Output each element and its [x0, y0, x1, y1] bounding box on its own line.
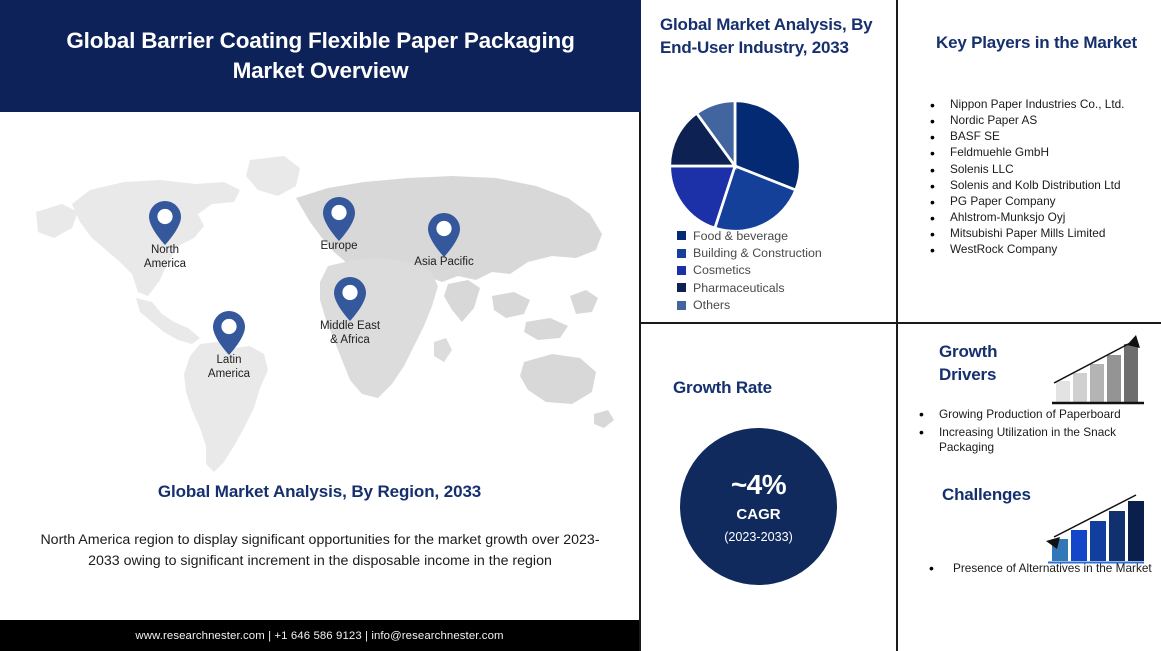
key-player-item: PG Paper Company: [928, 194, 1153, 210]
legend-label: Food & beverage: [693, 229, 788, 243]
map-pin-label: Middle East& Africa: [320, 320, 380, 347]
footer-bar: www.researchnester.com | +1 646 586 9123…: [0, 620, 639, 651]
key-player-item: Solenis and Kolb Distribution Ltd: [928, 178, 1153, 194]
location-pin-icon: [322, 196, 356, 242]
region-analysis-heading: Global Market Analysis, By Region, 2033: [0, 482, 639, 502]
map-pin-label: Asia Pacific: [414, 256, 473, 270]
legend-swatch: [677, 283, 686, 292]
challenges-list: Presence of Alternatives in the Market: [915, 561, 1161, 579]
legend-swatch: [677, 266, 686, 275]
legend-label: Building & Construction: [693, 246, 822, 260]
key-players-title: Key Players in the Market: [936, 32, 1146, 55]
challenges-title: Challenges: [942, 484, 1031, 507]
key-player-item: Nippon Paper Industries Co., Ltd.: [928, 97, 1153, 113]
location-pin-icon: [333, 276, 367, 322]
growth-driver-item: Increasing Utilization in the Snack Pack…: [915, 425, 1161, 456]
pie-legend-item: Pharmaceuticals: [677, 279, 897, 296]
pie-chart-title: Global Market Analysis, By End-User Indu…: [660, 14, 885, 59]
map-pin-asia-pacific[interactable]: Asia Pacific: [427, 212, 461, 258]
map-pin-label: Europe: [320, 240, 357, 254]
world-map-svg: [28, 146, 614, 482]
end-user-industry-panel: Global Market Analysis, By End-User Indu…: [641, 0, 898, 324]
ascending-bar-chart-down-arrow-icon: [1038, 489, 1146, 569]
left-panel: Global Barrier Coating Flexible Paper Pa…: [0, 0, 641, 651]
map-pin-label: LatinAmerica: [208, 354, 250, 381]
world-map: NorthAmerica Europe Asia Pacific: [0, 112, 639, 482]
key-player-item: Feldmuehle GmbH: [928, 145, 1153, 161]
region-analysis-body: North America region to display signific…: [36, 530, 604, 573]
header-banner: Global Barrier Coating Flexible Paper Pa…: [0, 0, 641, 112]
location-pin-icon: [212, 310, 246, 356]
cagr-badge: ~4% CAGR (2023-2033): [680, 428, 837, 585]
legend-label: Pharmaceuticals: [693, 281, 785, 295]
key-player-item: Ahlstrom-Munksjo Oyj: [928, 210, 1153, 226]
footer-contact-text: www.researchnester.com | +1 646 586 9123…: [135, 630, 503, 642]
growth-drivers-list: Growing Production of PaperboardIncreasi…: [915, 407, 1161, 458]
map-pin-europe[interactable]: Europe: [322, 196, 356, 242]
cagr-period: (2023-2033): [724, 530, 793, 544]
challenge-item: Presence of Alternatives in the Market: [915, 561, 1161, 577]
map-pin-north-america[interactable]: NorthAmerica: [148, 200, 182, 246]
cagr-percent: ~4%: [731, 469, 786, 501]
key-player-item: WestRock Company: [928, 242, 1153, 258]
pie-legend-item: Others: [677, 297, 897, 314]
growth-rate-panel: Growth Rate ~4% CAGR (2023-2033): [641, 324, 898, 651]
legend-swatch: [677, 249, 686, 258]
page-title: Global Barrier Coating Flexible Paper Pa…: [0, 26, 641, 86]
key-players-panel: Key Players in the Market Nippon Paper I…: [898, 0, 1161, 324]
pie-legend-item: Building & Construction: [677, 244, 897, 261]
ascending-bar-chart-up-arrow-icon: [1048, 331, 1148, 409]
location-pin-icon: [148, 200, 182, 246]
key-player-item: Nordic Paper AS: [928, 113, 1153, 129]
growth-drivers-title: Growth Drivers: [939, 341, 1044, 386]
end-user-pie-chart: [667, 98, 803, 234]
legend-label: Others: [693, 298, 730, 312]
key-player-item: BASF SE: [928, 129, 1153, 145]
growth-driver-item: Growing Production of Paperboard: [915, 407, 1161, 423]
pie-legend-item: Cosmetics: [677, 262, 897, 279]
legend-swatch: [677, 301, 686, 310]
map-pin-latin-america[interactable]: LatinAmerica: [212, 310, 246, 356]
pie-legend-item: Food & beverage: [677, 227, 897, 244]
location-pin-icon: [427, 212, 461, 258]
infographic-page: Global Barrier Coating Flexible Paper Pa…: [0, 0, 1161, 651]
key-player-item: Mitsubishi Paper Mills Limited: [928, 226, 1153, 242]
key-player-item: Solenis LLC: [928, 162, 1153, 178]
key-players-list: Nippon Paper Industries Co., Ltd.Nordic …: [928, 97, 1153, 259]
growth-rate-title: Growth Rate: [673, 377, 772, 400]
map-pin-middle-east-africa[interactable]: Middle East& Africa: [333, 276, 367, 322]
map-pin-label: NorthAmerica: [144, 244, 186, 271]
legend-label: Cosmetics: [693, 263, 751, 277]
pie-legend: Food & beverageBuilding & ConstructionCo…: [677, 227, 897, 314]
legend-swatch: [677, 231, 686, 240]
cagr-label: CAGR: [736, 506, 780, 523]
drivers-challenges-panel: Growth Drivers Growing Production of Pap…: [898, 324, 1161, 651]
